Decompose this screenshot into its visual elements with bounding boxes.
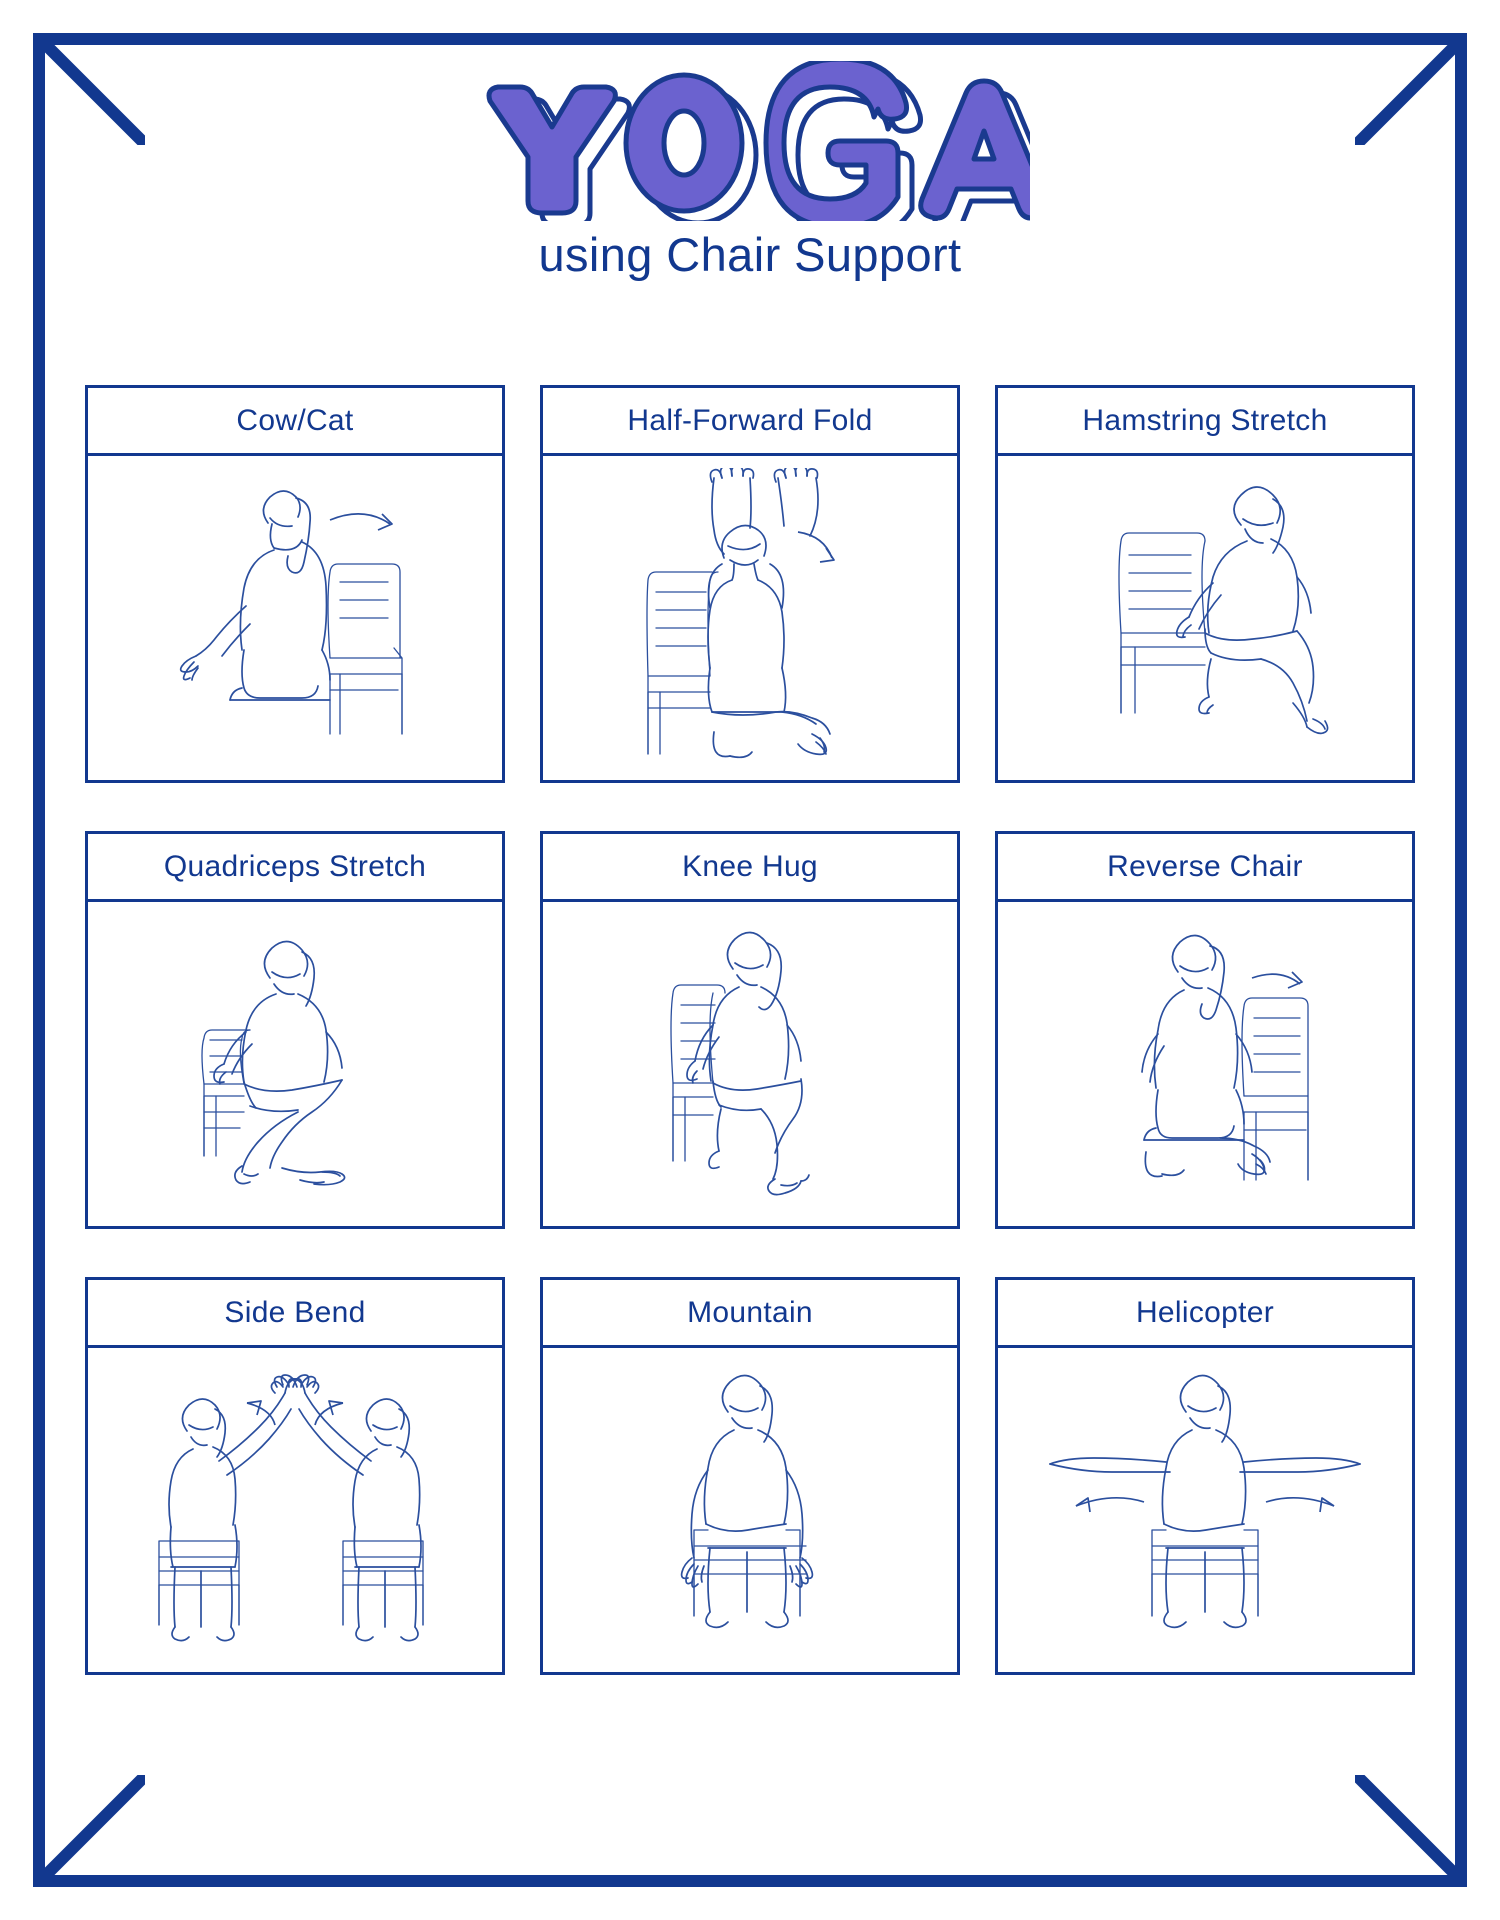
pose-card[interactable]: Hamstring Stretch xyxy=(995,385,1415,783)
pose-card[interactable]: Mountain xyxy=(540,1277,960,1675)
pose-card-header: Reverse Chair xyxy=(995,831,1415,899)
standing-arms-wide-figure-icon xyxy=(1040,1370,1370,1650)
pose-card-body xyxy=(995,899,1415,1229)
pose-label: Knee Hug xyxy=(682,850,818,884)
pose-card-header: Hamstring Stretch xyxy=(995,385,1415,453)
poster-subtitle: using Chair Support xyxy=(0,227,1500,282)
pose-card-header: Mountain xyxy=(540,1277,960,1345)
pose-card-body xyxy=(995,453,1415,783)
pose-card-body xyxy=(540,453,960,783)
standing-side-bend-pair-figure-icon xyxy=(135,1365,455,1655)
corner-accent-bottom-right xyxy=(1355,1775,1467,1887)
pose-card-body xyxy=(540,899,960,1229)
pose-label: Hamstring Stretch xyxy=(1082,404,1327,438)
seated-cow-cat-figure-icon xyxy=(150,478,440,758)
pose-card[interactable]: Knee Hug xyxy=(540,831,960,1229)
pose-card-body xyxy=(85,899,505,1229)
yoga-poster: using Chair Support Cow/Cat xyxy=(0,0,1500,1920)
pose-card[interactable]: Quadriceps Stretch xyxy=(85,831,505,1229)
pose-card-body xyxy=(995,1345,1415,1675)
seated-arms-overhead-figure-icon xyxy=(610,468,890,768)
pose-card[interactable]: Cow/Cat xyxy=(85,385,505,783)
pose-label: Reverse Chair xyxy=(1107,850,1303,884)
seated-knee-hug-figure-icon xyxy=(625,929,875,1199)
pose-card-header: Cow/Cat xyxy=(85,385,505,453)
corner-accent-bottom-left xyxy=(33,1775,145,1887)
pose-card-header: Helicopter xyxy=(995,1277,1415,1345)
pose-card-header: Quadriceps Stretch xyxy=(85,831,505,899)
seated-leg-extended-figure-icon xyxy=(1045,483,1365,753)
pose-card[interactable]: Reverse Chair xyxy=(995,831,1415,1229)
pose-label: Side Bend xyxy=(224,1296,365,1330)
yoga-wordmark-icon xyxy=(470,61,1030,221)
pose-card-body xyxy=(540,1345,960,1675)
poster-title xyxy=(0,58,1500,223)
pose-card[interactable]: Side Bend xyxy=(85,1277,505,1675)
pose-label: Helicopter xyxy=(1136,1296,1274,1330)
seated-kneeling-lunge-figure-icon xyxy=(140,934,450,1194)
poster-header: using Chair Support xyxy=(0,58,1500,282)
pose-label: Half-Forward Fold xyxy=(627,404,872,438)
pose-card-body xyxy=(85,453,505,783)
pose-grid: Cow/Cat xyxy=(85,385,1415,1675)
pose-card[interactable]: Helicopter xyxy=(995,1277,1415,1675)
pose-card-body xyxy=(85,1345,505,1675)
pose-label: Quadriceps Stretch xyxy=(164,850,426,884)
pose-label: Mountain xyxy=(687,1296,813,1330)
pose-label: Cow/Cat xyxy=(236,404,353,438)
pose-card-header: Side Bend xyxy=(85,1277,505,1345)
standing-mountain-figure-icon xyxy=(650,1370,850,1650)
pose-card-header: Half-Forward Fold xyxy=(540,385,960,453)
seated-reverse-chair-figure-icon xyxy=(1070,924,1340,1204)
pose-card-header: Knee Hug xyxy=(540,831,960,899)
pose-card[interactable]: Half-Forward Fold xyxy=(540,385,960,783)
